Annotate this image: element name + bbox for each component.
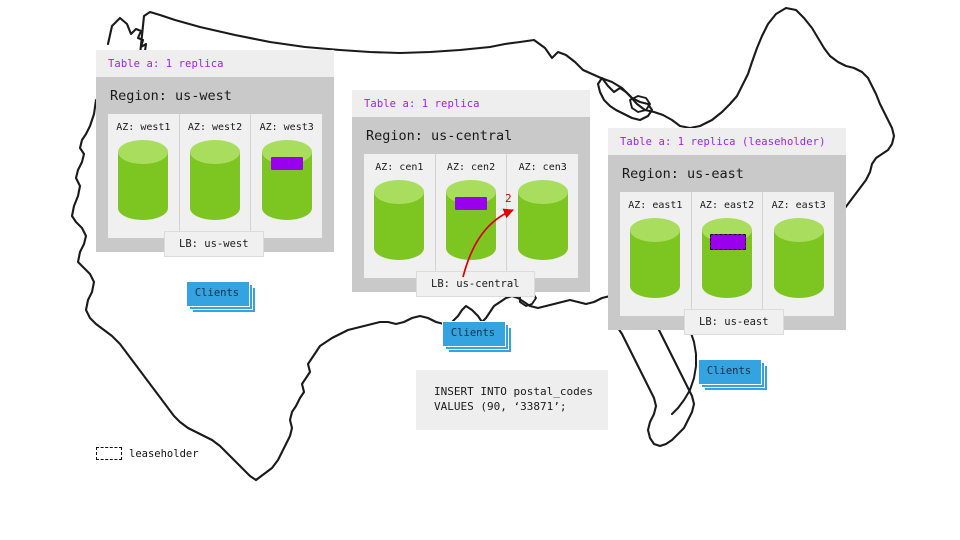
cylinder-icon <box>772 217 826 299</box>
clients-label: Clients <box>442 321 504 345</box>
node-cylinder-cen3[interactable] <box>516 179 570 261</box>
clients-stack-us-east[interactable]: Clients <box>698 359 760 383</box>
region-panel-us-central: Table a: 1 replica Region: us-central AZ… <box>352 90 590 292</box>
az-label-east3: AZ: east3 <box>763 200 834 211</box>
node-cylinder-west2[interactable] <box>188 139 242 221</box>
load-balancer-us-east[interactable]: LB: us-east <box>684 309 784 335</box>
az-label-cen3: AZ: cen3 <box>507 162 578 173</box>
region-title-us-east: Region: us-east <box>620 155 834 192</box>
region-panel-us-east: Table a: 1 replica (leaseholder) Region:… <box>608 128 846 330</box>
region-body-us-west: Region: us-west AZ: west1 AZ: west2 <box>96 77 334 252</box>
node-cylinder-west1[interactable] <box>116 139 170 221</box>
region-body-us-east: Region: us-east AZ: east1 AZ: east2 <box>608 155 846 330</box>
az-label-east2: AZ: east2 <box>692 200 763 211</box>
az-label-west1: AZ: west1 <box>108 122 179 133</box>
region-body-us-central: Region: us-central AZ: cen1 AZ: cen2 <box>352 117 590 292</box>
clients-stack-us-west[interactable]: Clients <box>186 281 248 305</box>
az-cell-east1[interactable]: AZ: east1 <box>620 192 692 316</box>
az-strip-us-east: AZ: east1 AZ: east2 <box>620 192 834 316</box>
cylinder-icon <box>116 139 170 221</box>
legend: leaseholder <box>96 447 199 460</box>
az-label-west3: AZ: west3 <box>251 122 322 133</box>
node-cylinder-east2[interactable] <box>700 217 754 299</box>
arrow-step-label: 2 <box>505 192 512 205</box>
region-banner-us-central: Table a: 1 replica <box>352 90 590 117</box>
az-cell-west1[interactable]: AZ: west1 <box>108 114 180 238</box>
az-cell-west3[interactable]: AZ: west3 <box>251 114 322 238</box>
az-strip-us-west: AZ: west1 AZ: west2 <box>108 114 322 238</box>
region-panel-us-west: Table a: 1 replica Region: us-west AZ: w… <box>96 50 334 252</box>
az-cell-cen2[interactable]: AZ: cen2 <box>436 154 508 278</box>
az-label-west2: AZ: west2 <box>180 122 251 133</box>
cylinder-icon <box>516 179 570 261</box>
dashed-rectangle-icon <box>96 447 122 460</box>
az-label-cen2: AZ: cen2 <box>436 162 507 173</box>
node-cylinder-cen1[interactable] <box>372 179 426 261</box>
region-title-us-central: Region: us-central <box>364 117 578 154</box>
replica-block-cen2 <box>455 197 487 210</box>
node-cylinder-east3[interactable] <box>772 217 826 299</box>
node-cylinder-east1[interactable] <box>628 217 682 299</box>
node-cylinder-west3[interactable] <box>260 139 314 221</box>
region-banner-us-east: Table a: 1 replica (leaseholder) <box>608 128 846 155</box>
cylinder-icon <box>444 179 498 261</box>
sql-statement-box: INSERT INTO postal_codes VALUES (90, ‘33… <box>416 370 608 430</box>
cylinder-icon <box>188 139 242 221</box>
load-balancer-us-west[interactable]: LB: us-west <box>164 231 264 257</box>
replica-block-west3 <box>271 157 303 170</box>
az-cell-cen1[interactable]: AZ: cen1 <box>364 154 436 278</box>
clients-label: Clients <box>186 281 248 305</box>
cylinder-icon <box>628 217 682 299</box>
diagram-canvas: Table a: 1 replica Region: us-west AZ: w… <box>0 0 960 540</box>
cylinder-icon <box>260 139 314 221</box>
az-cell-east3[interactable]: AZ: east3 <box>763 192 834 316</box>
az-label-cen1: AZ: cen1 <box>364 162 435 173</box>
az-cell-west2[interactable]: AZ: west2 <box>180 114 252 238</box>
az-label-east1: AZ: east1 <box>620 200 691 211</box>
cylinder-icon <box>700 217 754 299</box>
region-banner-us-west: Table a: 1 replica <box>96 50 334 77</box>
legend-label: leaseholder <box>129 448 199 460</box>
az-cell-cen3[interactable]: AZ: cen3 <box>507 154 578 278</box>
az-cell-east2[interactable]: AZ: east2 <box>692 192 764 316</box>
node-cylinder-cen2[interactable] <box>444 179 498 261</box>
cylinder-icon <box>372 179 426 261</box>
region-title-us-west: Region: us-west <box>108 77 322 114</box>
az-strip-us-central: AZ: cen1 AZ: cen2 <box>364 154 578 278</box>
replica-block-east2-leaseholder <box>710 234 746 250</box>
load-balancer-us-central[interactable]: LB: us-central <box>416 271 535 297</box>
clients-stack-us-central[interactable]: Clients <box>442 321 504 345</box>
clients-label: Clients <box>698 359 760 383</box>
